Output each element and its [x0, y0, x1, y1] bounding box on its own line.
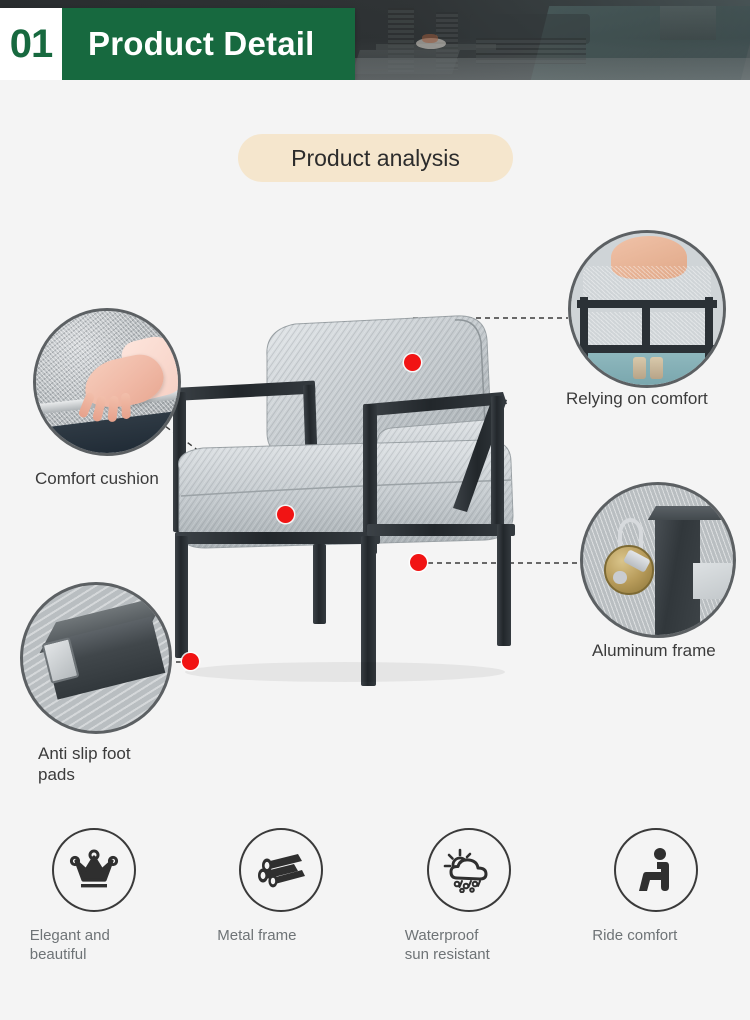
page-header: 01 Product Detail	[0, 0, 750, 80]
product-image-armchair	[155, 300, 555, 700]
callout-photo-anti-slip-foot-pads	[20, 582, 172, 734]
hotspot-aluminum-frame[interactable]	[410, 554, 427, 571]
callout-photo-aluminum-frame	[580, 482, 736, 638]
pipes-icon	[239, 828, 323, 912]
header-title-tag: 01 Product Detail	[0, 8, 355, 80]
feature-metal-frame: Metal frame	[188, 828, 376, 988]
callout-label-anti-slip-foot-pads: Anti slip foot pads	[38, 743, 131, 785]
hotspot-relying-on-comfort[interactable]	[404, 354, 421, 371]
header-section-number: 01	[0, 8, 62, 80]
feature-ride-comfort: Ride comfort	[563, 828, 750, 988]
section-pill-label: Product analysis	[291, 145, 460, 172]
feature-label-metal-frame: Metal frame	[211, 926, 351, 945]
callout-label-comfort-cushion: Comfort cushion	[35, 468, 159, 489]
feature-waterproof-sun-resistant: Waterproof sun resistant	[375, 828, 563, 988]
weather-icon	[427, 828, 511, 912]
product-detail-page: 01 Product Detail Product analysis	[0, 0, 750, 1020]
crown-icon	[52, 828, 136, 912]
callout-photo-comfort-cushion	[33, 308, 181, 456]
callout-label-aluminum-frame: Aluminum frame	[592, 640, 716, 661]
page-title: Product Detail	[88, 25, 315, 63]
hotspot-comfort-cushion[interactable]	[277, 506, 294, 523]
section-pill: Product analysis	[238, 134, 513, 182]
seated-person-icon	[614, 828, 698, 912]
feature-list: Elegant and beautiful	[0, 828, 750, 988]
callout-label-relying-on-comfort: Relying on comfort	[566, 388, 708, 409]
callout-photo-relying-on-comfort	[568, 230, 726, 388]
feature-label-ride-comfort: Ride comfort	[586, 926, 726, 945]
feature-label-elegant-and-beautiful: Elegant and beautiful	[24, 926, 164, 964]
hotspot-anti-slip-foot-pads[interactable]	[182, 653, 199, 670]
feature-label-waterproof-sun-resistant: Waterproof sun resistant	[399, 926, 539, 964]
feature-elegant-and-beautiful: Elegant and beautiful	[0, 828, 188, 988]
product-analysis-stage: Comfort cushion Relying on comfort Alumi…	[0, 200, 750, 800]
